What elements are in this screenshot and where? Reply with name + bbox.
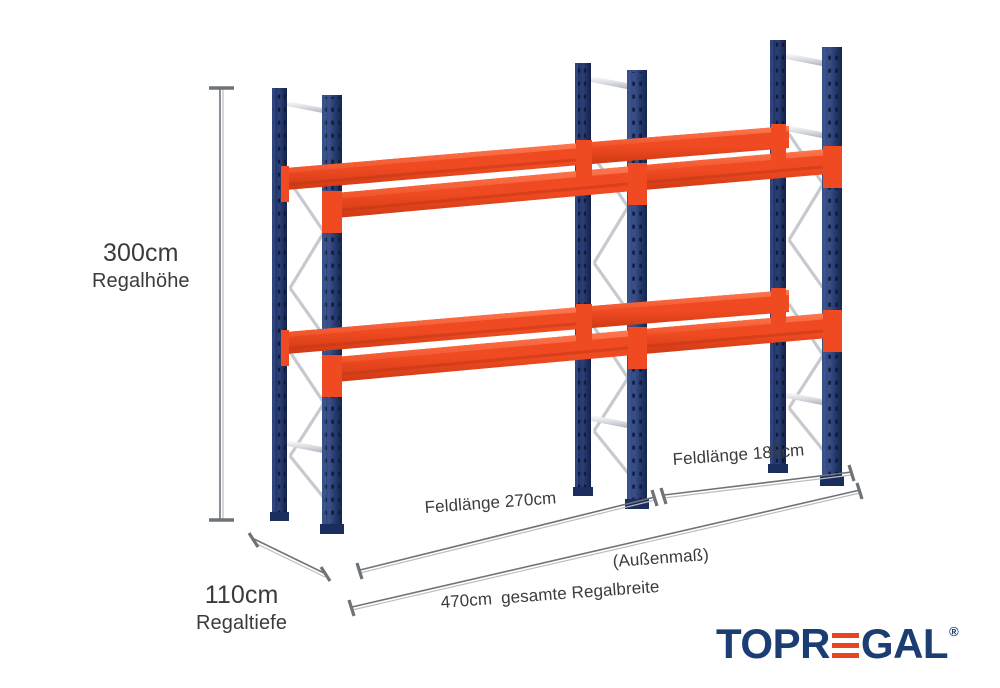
logo-wordmark: TOPR GAL	[716, 623, 948, 665]
topregal-logo: TOPR GAL ®	[716, 622, 959, 666]
dimline-height	[209, 88, 234, 520]
dimension-lines	[0, 0, 1000, 688]
rack-height-value: 300cm	[92, 238, 190, 269]
logo-text-part2: GAL	[861, 623, 948, 665]
label-rack-depth: 110cm Regaltiefe	[196, 580, 287, 636]
logo-text-part1: TOPR	[716, 623, 830, 665]
rack-depth-name: Regaltiefe	[196, 611, 287, 636]
total-width-value: 470cm	[440, 589, 493, 612]
label-rack-height: 300cm Regalhöhe	[92, 238, 190, 294]
logo-e-bars-icon	[832, 630, 859, 660]
rack-height-name: Regalhöhe	[92, 269, 190, 294]
rack-depth-value: 110cm	[196, 580, 287, 611]
diagram-canvas: 300cm Regalhöhe 110cm Regaltiefe Feldlän…	[0, 0, 1000, 688]
registered-trademark-icon: ®	[949, 624, 959, 639]
dimline-depth	[249, 533, 330, 581]
